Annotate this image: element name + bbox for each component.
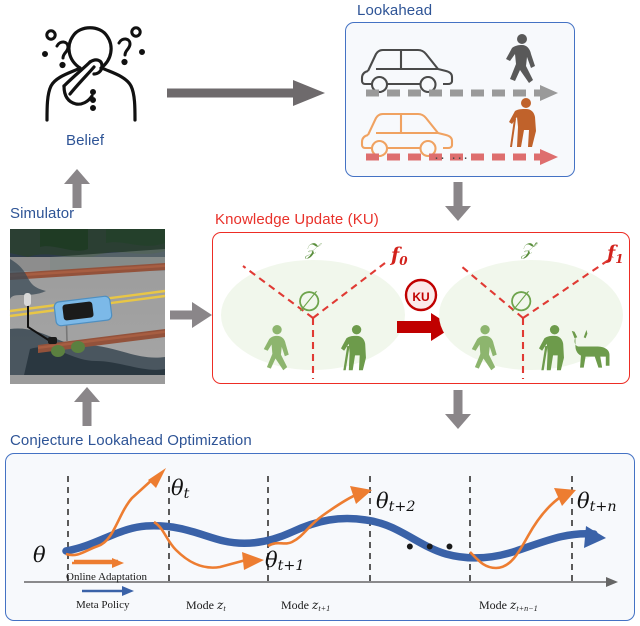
theta-t2-base: θ bbox=[376, 489, 389, 513]
belief-block: Belief bbox=[18, 10, 168, 170]
mode-label-tn1: Mode zt+n−1 bbox=[479, 598, 538, 613]
car-outline-gray-icon bbox=[362, 50, 452, 92]
lookahead-panel: ·· ··· bbox=[345, 22, 575, 177]
legend-label-meta-policy: Meta Policy bbox=[76, 599, 129, 611]
arrow-optimization-to-simulator bbox=[72, 386, 102, 428]
legend-label-online-adaptation: Online Adaptation bbox=[66, 571, 147, 583]
belief-icon bbox=[18, 10, 168, 130]
ku-title-wrap: Knowledge Update (KU) bbox=[215, 211, 379, 228]
ku-right-set-label: 𝒵′ bbox=[520, 240, 538, 260]
ku-right-empty-symbol: ∅ bbox=[509, 285, 533, 318]
simulator-image bbox=[10, 229, 165, 384]
mode-t-sub: t bbox=[223, 604, 225, 613]
mode-t1-sub: t+1 bbox=[318, 604, 330, 613]
ku-badge: KU bbox=[406, 280, 436, 310]
theta-label-t2: θt+2 bbox=[376, 489, 415, 515]
knowledge-update-panel: ∅ f0 𝒵 KU bbox=[212, 232, 630, 384]
lookahead-ellipsis: ·· ··· bbox=[434, 149, 469, 166]
pedestrian-walking-gray-icon bbox=[506, 34, 535, 83]
legend-arrow-online-adaptation bbox=[70, 556, 130, 570]
ku-left-empty-symbol: ∅ bbox=[297, 285, 321, 318]
legend-arrow-meta-policy bbox=[80, 584, 140, 598]
simulator-title-wrap: Simulator bbox=[10, 205, 74, 222]
ku-title: Knowledge Update (KU) bbox=[215, 211, 379, 228]
belief-label: Belief bbox=[66, 132, 104, 149]
conjecture-title-wrap: Conjecture Lookahead Optimization bbox=[10, 432, 252, 449]
theta-t-base: θ bbox=[171, 476, 184, 500]
mode-label-t: Mode zt bbox=[186, 598, 226, 613]
arrow-lookahead-to-ku bbox=[443, 180, 473, 222]
ku-right-f-sub: 1 bbox=[615, 252, 623, 266]
lookahead-title: Lookahead bbox=[357, 2, 432, 19]
theta-t2-sub: t+2 bbox=[389, 499, 416, 515]
svg-text:f0: f0 bbox=[389, 244, 408, 268]
arrow-simulator-to-ku bbox=[168, 300, 214, 330]
arrow-simulator-to-belief bbox=[62, 168, 92, 210]
svg-text:f1: f1 bbox=[605, 242, 624, 266]
theta-tn-sub: t+n bbox=[590, 499, 617, 515]
theta-label-tn: θt+n bbox=[577, 489, 617, 515]
conjecture-ellipsis: • • • bbox=[406, 534, 456, 559]
mode-t-prefix: Mode bbox=[186, 598, 217, 612]
ku-diagram: ∅ f0 𝒵 KU bbox=[213, 233, 629, 383]
lookahead-title-wrap: Lookahead bbox=[357, 2, 432, 19]
meta-policy-curve bbox=[66, 519, 606, 558]
dashed-arrow-gray-icon bbox=[366, 85, 558, 101]
arrow-ku-to-optimization bbox=[443, 388, 473, 430]
theta-tn-base: θ bbox=[577, 489, 590, 513]
ku-left-set-label: 𝒵 bbox=[304, 240, 322, 260]
arrow-belief-to-lookahead bbox=[165, 78, 330, 108]
mode-label-t1: Mode zt+1 bbox=[281, 598, 330, 613]
mode-t1-prefix: Mode bbox=[281, 598, 312, 612]
mode-tn1-sub: t+n−1 bbox=[516, 604, 537, 613]
theta-label-t: θt bbox=[171, 476, 189, 502]
elderly-with-cane-orange-icon bbox=[509, 98, 536, 147]
theta-t-sub: t bbox=[184, 486, 190, 502]
conjecture-panel: • • • θ θt θt+1 θt+2 θt+n Online Adaptat… bbox=[5, 453, 635, 621]
simulator-aerial-scene bbox=[10, 229, 165, 384]
theta-label-t1: θt+1 bbox=[265, 548, 304, 574]
theta-t1-sub: t+1 bbox=[278, 558, 305, 574]
theta-t1-base: θ bbox=[265, 548, 278, 572]
simulator-title: Simulator bbox=[10, 205, 74, 222]
theta-base-label: θ bbox=[33, 543, 46, 567]
ku-badge-label: KU bbox=[412, 290, 429, 304]
mode-tn1-prefix: Mode bbox=[479, 598, 510, 612]
ku-left-f-sub: 0 bbox=[399, 254, 408, 268]
conjecture-title: Conjecture Lookahead Optimization bbox=[10, 432, 252, 449]
